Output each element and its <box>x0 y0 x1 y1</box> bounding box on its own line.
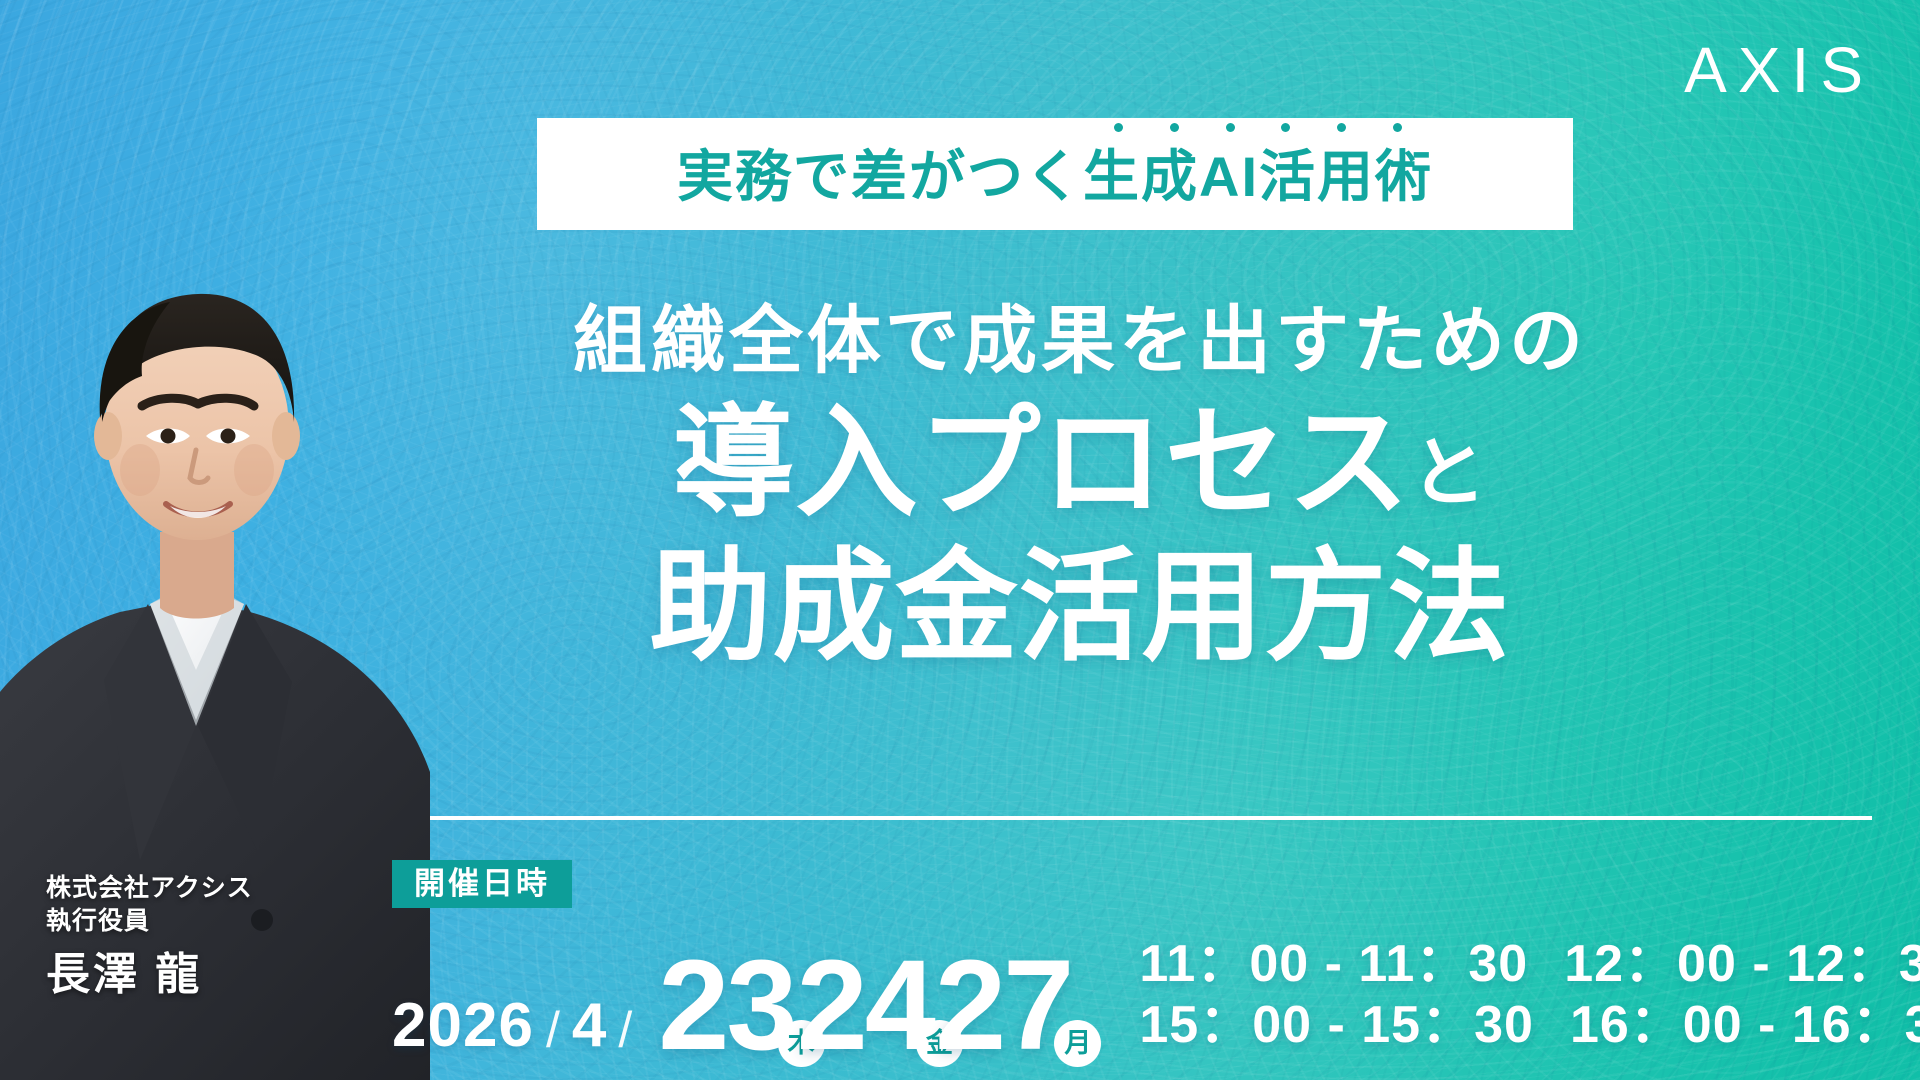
speaker-company: 株式会社アクシス <box>46 872 253 905</box>
speaker-role: 執行役員 <box>46 905 253 938</box>
schedule-day-1: 23 木 <box>658 951 794 1061</box>
schedule-day-2: 24 金 <box>797 951 933 1061</box>
time-slot-4: 16：00 - 16：30 <box>1570 995 1920 1056</box>
axis-logo: AXIS <box>1684 38 1874 102</box>
schedule-day-3: 27 月 <box>935 951 1071 1061</box>
headline-line-2-suffix: と <box>1411 431 1488 516</box>
schedule-day-1-number: 23 <box>658 951 794 1061</box>
schedule-times: 11：00 - 11：30 12：00 - 12：30 15：00 - 15：3… <box>1139 934 1920 1057</box>
eyebrow-text: 実務で差がつく生成AI活用術 <box>677 149 1433 205</box>
eyebrow-banner: 実務で差がつく生成AI活用術 <box>537 118 1573 230</box>
headline-line-1: 組織全体で成果を出すための <box>240 300 1920 381</box>
eyebrow-emphasis: 生成AI活用術 <box>1083 145 1433 208</box>
section-divider <box>390 816 1872 820</box>
eyebrow-emphasis-wrap: 生成AI活用術 <box>1083 149 1433 205</box>
schedule-separator-2: / <box>618 1005 632 1055</box>
schedule-day-2-number: 24 <box>797 951 933 1061</box>
emphasis-dots <box>1083 123 1433 132</box>
headline-line-2: 導入プロセスと <box>240 393 1920 535</box>
eyebrow-prefix: 実務で差がつく <box>677 145 1083 208</box>
speaker-info: 株式会社アクシス 執行役員 長澤 龍 <box>46 872 253 999</box>
headline-block: 組織全体で成果を出すための 導入プロセスと 助成金活用方法 <box>0 300 1920 678</box>
headline-line-2-main: 導入プロセス <box>673 395 1411 531</box>
schedule-days: 23 木 24 金 27 月 <box>658 951 1073 1061</box>
schedule-time-row-2: 15：00 - 15：30 16：00 - 16：30 <box>1139 995 1920 1056</box>
schedule-year: 2026 <box>392 995 534 1057</box>
headline-line-3: 助成金活用方法 <box>240 537 1920 679</box>
schedule-row: 2026 / 4 / 23 木 24 金 27 月 <box>392 938 1920 1061</box>
speaker-name: 長澤 龍 <box>46 951 253 999</box>
schedule-separator-1: / <box>546 1005 560 1055</box>
schedule-month: 4 <box>572 995 606 1057</box>
time-slot-2: 12：00 - 12：30 <box>1564 934 1920 995</box>
webinar-banner: AXIS 実務で差がつく生成AI活用術 組織全体で成果を出すための 導入プロセス… <box>0 0 1920 1080</box>
schedule-time-row-1: 11：00 - 11：30 12：00 - 12：30 <box>1139 934 1920 995</box>
schedule-day-3-weekday: 月 <box>1054 1020 1101 1067</box>
time-slot-3: 15：00 - 15：30 <box>1139 995 1534 1056</box>
schedule-badge: 開催日時 <box>392 860 572 908</box>
schedule-day-3-number: 27 <box>935 951 1071 1061</box>
time-slot-1: 11：00 - 11：30 <box>1139 934 1528 995</box>
schedule-block: 開催日時 2026 / 4 / 23 木 24 金 27 月 <box>392 860 572 908</box>
